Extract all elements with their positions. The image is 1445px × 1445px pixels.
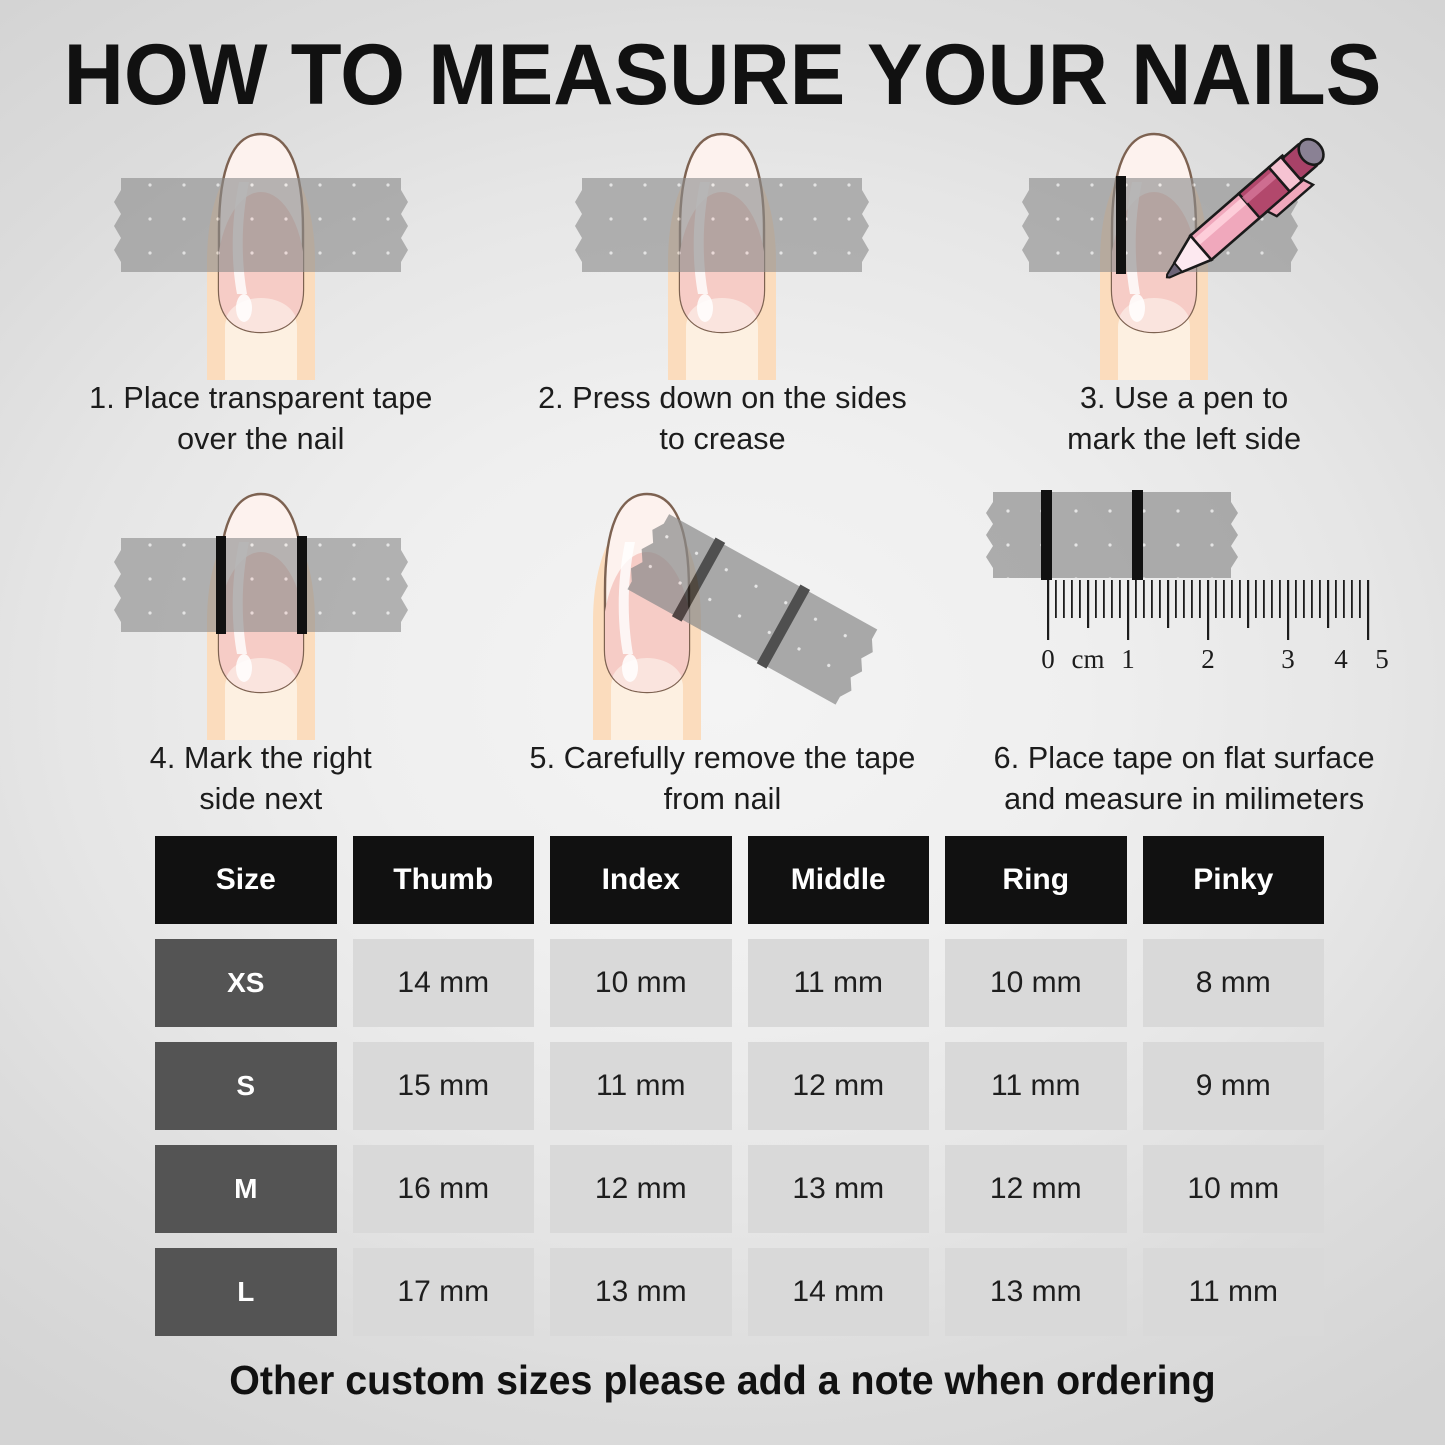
table-cell-s-index: 11 mm [550,1042,732,1130]
steps-grid: 1. Place transparent tape over the nail [30,112,1415,832]
step-2-illustration [492,112,954,380]
ruler-unit: cm [1072,644,1105,674]
table-cell-m-index: 12 mm [550,1145,732,1233]
table-cell-l-pinky: 11 mm [1143,1248,1325,1336]
table-cell-l-index: 13 mm [550,1248,732,1336]
ruler-icon [1047,580,1369,640]
step-6-caption: 6. Place tape on flat surface and measur… [953,738,1415,820]
table-header-thumb: Thumb [353,836,535,924]
ruler-label-1: 1 [1121,644,1135,674]
tape-mark-left [216,536,226,634]
tape-mark-left [1041,490,1052,580]
table-cell-m-ring: 12 mm [945,1145,1127,1233]
footer-note: Other custom sizes please add a note whe… [29,1357,1416,1404]
infographic-page: HOW TO MEASURE YOUR NAILS [0,0,1445,1445]
size-chart-table: Size Thumb Index Middle Ring Pinky XS 14… [155,836,1324,1336]
table-cell-l-ring: 13 mm [945,1248,1127,1336]
table-row-size-l: L [155,1248,337,1336]
table-cell-xs-pinky: 8 mm [1143,939,1325,1027]
table-cell-xs-ring: 10 mm [945,939,1127,1027]
table-cell-xs-middle: 11 mm [748,939,930,1027]
ruler-label-2: 2 [1201,644,1215,674]
step-2: 2. Press down on the sides to crease [492,112,954,472]
table-header-ring: Ring [945,836,1127,924]
ruler-label-0: 0 [1041,644,1055,674]
table-cell-s-thumb: 15 mm [353,1042,535,1130]
table-header-pinky: Pinky [1143,836,1325,924]
table-row-size-xs: XS [155,939,337,1027]
table-row-size-s: S [155,1042,337,1130]
step-3-illustration [953,112,1415,380]
tape-mark-left [1116,176,1126,274]
table-cell-l-thumb: 17 mm [353,1248,535,1336]
table-header-index: Index [550,836,732,924]
ruler-label-3: 3 [1281,644,1295,674]
table-cell-xs-index: 10 mm [550,939,732,1027]
step-1-illustration [30,112,492,380]
step-1: 1. Place transparent tape over the nail [30,112,492,472]
tape-mark-right [297,536,307,634]
table-cell-m-middle: 13 mm [748,1145,930,1233]
ruler-label-4: 4 [1334,644,1348,674]
step-2-caption: 2. Press down on the sides to crease [492,378,954,460]
step-5-illustration [492,472,954,740]
table-cell-s-pinky: 9 mm [1143,1042,1325,1130]
ruler-label-5: 5 [1375,644,1389,674]
table-header-size: Size [155,836,337,924]
table-cell-m-pinky: 10 mm [1143,1145,1325,1233]
step-4-illustration [30,472,492,740]
step-6-illustration: 0 cm 1 2 3 4 5 [953,472,1415,740]
table-header-middle: Middle [748,836,930,924]
tape-mark-right [1132,490,1143,580]
table-cell-m-thumb: 16 mm [353,1145,535,1233]
step-5-caption: 5. Carefully remove the tape from nail [492,738,954,820]
table-cell-s-ring: 11 mm [945,1042,1127,1130]
step-3-caption: 3. Use a pen to mark the left side [953,378,1415,460]
step-6: 0 cm 1 2 3 4 5 6. Place tape on flat sur… [953,472,1415,832]
step-5: 5. Carefully remove the tape from nail [492,472,954,832]
step-1-caption: 1. Place transparent tape over the nail [30,378,492,460]
table-cell-l-middle: 14 mm [748,1248,930,1336]
step-3: 3. Use a pen to mark the left side [953,112,1415,472]
step-4: 4. Mark the right side next [30,472,492,832]
page-title: HOW TO MEASURE YOUR NAILS [22,26,1424,125]
step-4-caption: 4. Mark the right side next [30,738,492,820]
table-row-size-m: M [155,1145,337,1233]
table-cell-s-middle: 12 mm [748,1042,930,1130]
table-cell-xs-thumb: 14 mm [353,939,535,1027]
